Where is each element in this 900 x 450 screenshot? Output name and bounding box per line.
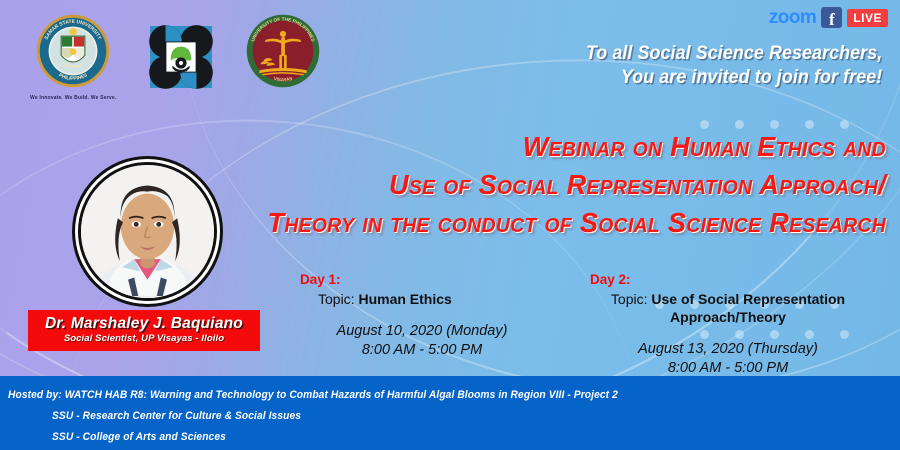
webinar-poster: SAMAR STATE UNIVERSITY PHILIPPINES We [0,0,900,450]
day-1-time: 8:00 AM - 5:00 PM [300,341,550,360]
invitation-line-1: To all Social Science Researchers, [586,42,882,66]
day-1-topic-key: Topic: [318,291,355,307]
footer-host-line: Hosted by: WATCH HAB R8: Warning and Tec… [8,389,618,401]
day-1-topic: Topic: Human Ethics [300,290,550,308]
day-2-topic-key: Topic: [611,291,648,307]
day-2-topic-value-line-2: Approach/Theory [568,308,888,326]
page-title: Webinar on Human Ethics and Use of Socia… [196,128,886,242]
day-1-topic-value: Human Ethics [358,291,451,307]
speaker-nameplate: Dr. Marshaley J. Baquiano Social Scienti… [28,310,260,351]
title-line-1: Webinar on Human Ethics and [217,128,886,166]
speaker-name: Dr. Marshaley J. Baquiano [32,315,256,332]
up-visayas-seal-icon: UNIVERSITY OF THE PHILIPPINES VISAYAS [246,14,320,88]
day-1-date: August 10, 2020 (Monday) [300,322,550,341]
stream-platform-bar: zoom f LIVE [769,7,888,28]
day-2-label: Day 2: [568,272,888,289]
title-line-2: Use of Social Representation Approach/ [217,166,886,204]
logo-strip: SAMAR STATE UNIVERSITY PHILIPPINES We [30,14,320,101]
footer-cas-line: SSU - College of Arts and Sciences [52,431,226,443]
facebook-icon[interactable]: f [821,7,842,28]
day-2-block: Day 2: Topic: Use of Social Representati… [568,272,888,378]
zoom-logo[interactable]: zoom [769,8,817,27]
day-2-date: August 13, 2020 (Thursday) [568,340,888,359]
invitation-line-2: You are invited to join for free! [586,66,882,90]
speaker-avatar [78,162,217,301]
footer-bar: Hosted by: WATCH HAB R8: Warning and Tec… [0,376,900,450]
watch-hab-logo-icon [138,14,224,100]
day-1-label: Day 1: [300,272,550,289]
day-1-block: Day 1: Topic: Human Ethics August 10, 20… [300,272,550,360]
day-2-topic-value: Use of Social Representation [651,291,845,307]
speaker-affiliation: Social Scientist, UP Visayas - Iloilo [32,334,256,344]
speaker-portrait-image [81,165,214,298]
day-2-topic: Topic: Use of Social Representation Appr… [568,290,888,326]
invitation-text: To all Social Science Researchers, You a… [586,42,882,91]
title-line-3: Theory in the conduct of Social Science … [217,204,886,242]
footer-rccsi-line: SSU - Research Center for Culture & Soci… [52,410,301,422]
samar-state-university-seal-icon: SAMAR STATE UNIVERSITY PHILIPPINES [36,14,110,88]
ssu-tagline: We Innovate. We Build. We Serve. [30,95,116,101]
live-badge: LIVE [847,9,888,27]
samar-state-university-logo-block: SAMAR STATE UNIVERSITY PHILIPPINES We [30,14,116,101]
